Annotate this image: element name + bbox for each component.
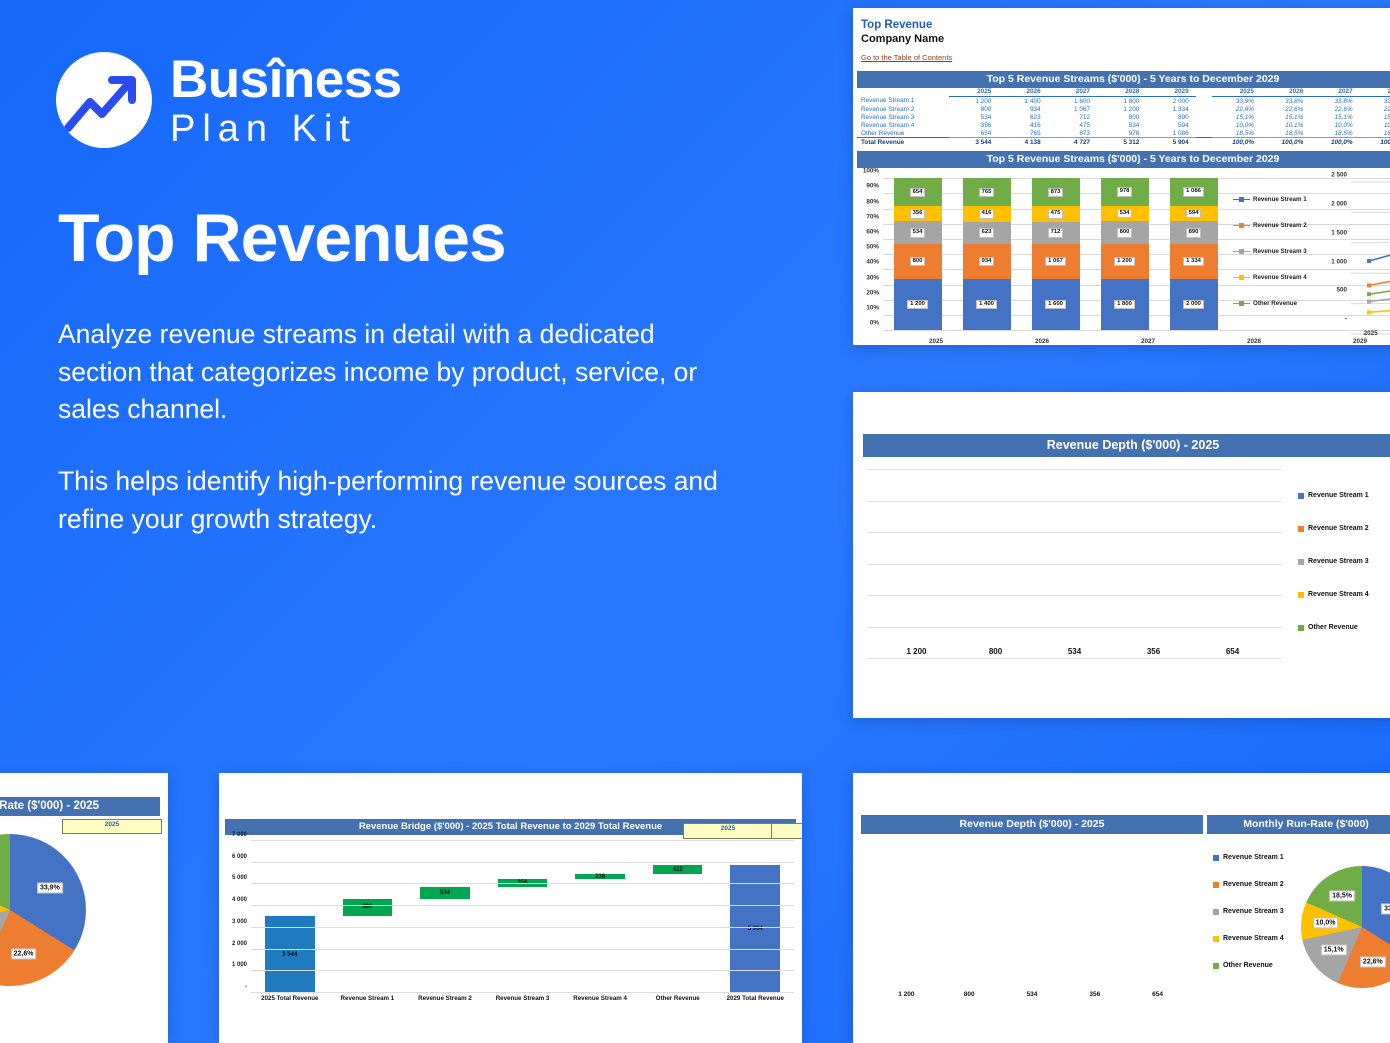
- gridline: [251, 862, 794, 863]
- run-rate-pie-host: 33,9%22,6%15,1%10,0%18,5%: [0, 816, 168, 1016]
- bridge-x-tick: Revenue Stream 4: [561, 995, 639, 1015]
- legend-label: Revenue Stream 2: [1253, 222, 1307, 229]
- table-of-contents-link[interactable]: Go to the Table of Contents: [861, 53, 952, 64]
- gridline: [251, 840, 794, 841]
- bridge-data-label: 432: [653, 867, 703, 873]
- line-x-axis: 202520262027: [1351, 330, 1390, 345]
- stacked-data-label: 534: [1117, 209, 1133, 218]
- legend-marker-icon: [1233, 248, 1250, 255]
- stacked-y-tick: 30%: [866, 274, 879, 281]
- table-title-bar: Top 5 Revenue Streams ($'000) - 5 Years …: [857, 71, 1390, 88]
- stacked-segment: 890: [1170, 221, 1218, 244]
- legend-item: Revenue Stream 1: [1213, 844, 1284, 871]
- panel-depth-and-runrate: Revenue Depth ($'000) - 2025 Monthly Run…: [853, 773, 1390, 1043]
- stacked-segment: 873: [1032, 178, 1080, 206]
- legend-swatch-icon: [1213, 936, 1219, 942]
- bridge-data-label: 534: [420, 890, 470, 896]
- depth-data-label: 356: [1063, 991, 1126, 998]
- gridline: [883, 330, 1390, 331]
- legend-swatch-icon: [1213, 909, 1219, 915]
- bridge-plot: 3 5448005343562384325 904: [251, 841, 794, 993]
- depth-data-label: 534: [1035, 647, 1114, 656]
- table-total-row: Total Revenue3 5444 1384 7275 3125 90410…: [857, 138, 1390, 147]
- stacked-bar-column: 7654166239341 400: [963, 178, 1011, 330]
- stacked-segment: 800: [894, 244, 942, 278]
- table-col-header: 2028: [1097, 88, 1146, 97]
- stacked-x-tick: 2028: [1230, 338, 1278, 345]
- stacked-x-tick: 2027: [1124, 338, 1172, 345]
- table-col-header: 2025: [949, 88, 998, 97]
- bridge-y-tick: 5 000: [232, 875, 247, 881]
- gridline: [867, 564, 1282, 565]
- depth-data-label: 654: [1193, 647, 1272, 656]
- panel-revenue-depth: Revenue Depth ($'000) - 2025 1 200800534…: [853, 392, 1390, 718]
- bridge-x-tick: 2025 Total Revenue: [251, 995, 329, 1015]
- bridge-bar: 534: [420, 887, 470, 899]
- legend-label: Other Revenue: [1223, 962, 1273, 969]
- legend-marker-icon: [1233, 300, 1250, 307]
- revenue-depth-legend: Revenue Stream 1Revenue Stream 2Revenue …: [1298, 479, 1369, 644]
- legend-item: Other Revenue: [1213, 952, 1284, 979]
- table-col-header: 2029: [1146, 88, 1195, 97]
- stacked-bar-column: 9785348001 2001 800: [1101, 178, 1149, 330]
- table-row: Other Revenue6547658739781 08618,5%18,5%…: [857, 129, 1390, 138]
- line-y-tick: 2 500: [1331, 172, 1347, 179]
- panel-monthly-run-rate-clipped: Run-Rate ($'000) - 2025 2025 33,9%22,6%1…: [0, 773, 168, 1043]
- stacked-plot: 6543565348001 2007654166239341 400873475…: [883, 178, 1228, 330]
- depth-data-label: 654: [1126, 991, 1189, 998]
- legend-label: Revenue Stream 4: [1223, 935, 1284, 942]
- bridge-x-tick: Revenue Stream 3: [484, 995, 562, 1015]
- sheet-company: Company Name: [861, 32, 1390, 46]
- revenue-depth-plot: 1 200800534356654: [867, 469, 1282, 658]
- stacked-segment: 1 800: [1101, 279, 1149, 331]
- stacked-segment: 623: [963, 222, 1011, 245]
- legend-swatch-icon: [1298, 625, 1304, 631]
- table-col-header-pct: 2028: [1360, 88, 1390, 97]
- gridline: [867, 658, 1282, 659]
- stacked-data-label: 934: [979, 257, 995, 266]
- logo-line-1: Busîness: [170, 53, 402, 106]
- stacked-bar-column: 6543565348001 200: [894, 178, 942, 330]
- table-row: Revenue Stream 353462371280089015,1%15,1…: [857, 113, 1390, 121]
- stacked-data-label: 623: [979, 228, 995, 237]
- legend-marker-icon: [1233, 274, 1250, 281]
- brand-logo: Busîness Plan Kit: [56, 52, 776, 148]
- bridge-data-label: 3 544: [265, 952, 315, 958]
- stacked-data-label: 712: [1048, 228, 1064, 237]
- table-col-header: 2026: [998, 88, 1047, 97]
- stacked-segment: 534: [894, 221, 942, 244]
- gridline: [251, 949, 794, 950]
- table-col-header-pct: 2025: [1212, 88, 1261, 97]
- stacked-data-label: 1 086: [1183, 187, 1204, 196]
- br-depth-legend: Revenue Stream 1Revenue Stream 2Revenue …: [1213, 844, 1284, 979]
- legend-item: Revenue Stream 3: [1233, 238, 1321, 264]
- legend-item: Revenue Stream 2: [1298, 512, 1369, 545]
- run-rate-title-bar: Run-Rate ($'000) - 2025: [0, 797, 160, 816]
- line-y-tick: 500: [1336, 287, 1347, 294]
- legend-label: Revenue Stream 2: [1308, 525, 1369, 532]
- stacked-y-tick: 20%: [866, 289, 879, 296]
- stacked-data-label: 1 800: [1114, 300, 1135, 309]
- line-y-tick: 2 000: [1331, 200, 1347, 207]
- stacked-data-label: 978: [1117, 187, 1133, 196]
- stacked-segment: 356: [894, 206, 942, 221]
- stacked-data-label: 475: [1048, 209, 1064, 218]
- bridge-y-axis: -1 0002 0003 0004 0005 0006 0007 000: [219, 841, 249, 993]
- depth-data-label: 800: [956, 647, 1035, 656]
- gridline: [251, 905, 794, 906]
- br-depth-chart: 1 200800534356654: [867, 840, 1197, 1000]
- stacked-y-tick: 60%: [866, 228, 879, 235]
- panel-revenue-bridge: Revenue Bridge ($'000) - 2025 Total Reve…: [219, 773, 802, 1043]
- legend-swatch-icon: [1213, 882, 1219, 888]
- stacked-x-tick: 2025: [912, 338, 960, 345]
- legend-label: Revenue Stream 3: [1308, 558, 1369, 565]
- pie-data-label: 33,9%: [1381, 904, 1390, 915]
- stacked-data-label: 356: [910, 209, 926, 218]
- bridge-data-label: 238: [575, 874, 625, 880]
- bridge-x-tick: Other Revenue: [639, 995, 717, 1015]
- table-col-header-pct: 2026: [1261, 88, 1310, 97]
- promo-paragraph-2: This helps identify high-performing reve…: [58, 463, 738, 538]
- legend-marker-icon: [1233, 222, 1250, 229]
- stacked-chart: 0%10%20%30%40%50%60%70%80%90%100% 654356…: [853, 172, 1390, 345]
- legend-label: Revenue Stream 3: [1223, 908, 1284, 915]
- stacked-data-label: 654: [910, 188, 926, 197]
- legend-item: Revenue Stream 2: [1213, 871, 1284, 898]
- legend-item: Other Revenue: [1233, 290, 1321, 316]
- bottom-right-title-row: Revenue Depth ($'000) - 2025 Monthly Run…: [861, 815, 1390, 834]
- line-y-axis: -5001 0001 5002 0002 500: [1319, 182, 1349, 326]
- stacked-segment: 2 000: [1170, 279, 1218, 330]
- stacked-segment: 934: [963, 244, 1011, 278]
- stacked-segment: 416: [963, 206, 1011, 221]
- depth-data-label: 1 200: [877, 647, 956, 656]
- stacked-data-label: 800: [910, 257, 926, 266]
- legend-item: Revenue Stream 1: [1298, 479, 1369, 512]
- page-title: Top Revenues: [58, 204, 776, 272]
- gridline: [867, 501, 1282, 502]
- stacked-y-tick: 0%: [870, 320, 879, 327]
- legend-label: Revenue Stream 4: [1308, 591, 1369, 598]
- legend-item: Revenue Stream 3: [1213, 898, 1284, 925]
- bridge-y-tick: 4 000: [232, 897, 247, 903]
- legend-marker-icon: [1233, 196, 1250, 203]
- line-chart: -5001 0001 5002 0002 500 202520262027: [1319, 176, 1390, 345]
- pie-data-label: 33,9%: [37, 882, 63, 893]
- bridge-bar: 238: [575, 874, 625, 879]
- sheet-title: Top Revenue: [861, 18, 1390, 32]
- bottom-right-body: 1 200800534356654 Revenue Stream 1Revenu…: [853, 834, 1390, 1014]
- stacked-chart-title-bar: Top 5 Revenue Streams ($'000) - 5 Years …: [857, 151, 1390, 168]
- legend-label: Revenue Stream 1: [1223, 854, 1284, 861]
- stacked-data-label: 1 200: [1114, 257, 1135, 266]
- legend-item: Revenue Stream 2: [1233, 212, 1321, 238]
- legend-swatch-icon: [1298, 493, 1304, 499]
- stacked-data-label: 1 600: [1045, 300, 1066, 309]
- gridline: [867, 595, 1282, 596]
- legend-swatch-icon: [1298, 559, 1304, 565]
- gridline: [251, 992, 794, 993]
- stacked-segment: 1 200: [1101, 244, 1149, 278]
- stacked-data-label: 873: [1048, 188, 1064, 197]
- stacked-segment: 654: [894, 178, 942, 206]
- depth-data-label: 356: [1114, 647, 1193, 656]
- logo-line-2: Plan Kit: [170, 110, 402, 148]
- bridge-y-tick: 1 000: [232, 962, 247, 968]
- bridge-bar: 432: [653, 865, 703, 874]
- bridge-x-tick: Revenue Stream 2: [406, 995, 484, 1015]
- stacked-segment: 534: [1101, 206, 1149, 221]
- legend-swatch-icon: [1213, 963, 1219, 969]
- legend-item: Revenue Stream 3: [1298, 545, 1369, 578]
- bridge-bar: 800: [343, 899, 393, 916]
- promo-block: Busîness Plan Kit Top Revenues Analyze r…: [56, 52, 776, 538]
- stacked-y-tick: 70%: [866, 213, 879, 220]
- stacked-segment: 765: [963, 178, 1011, 206]
- br-depth-title-bar: Revenue Depth ($'000) - 2025: [861, 815, 1203, 834]
- legend-item: Revenue Stream 1: [1233, 186, 1321, 212]
- stacked-segment: 1 086: [1170, 178, 1218, 206]
- revenue-depth-title-bar: Revenue Depth ($'000) - 2025: [863, 434, 1390, 457]
- legend-label: Revenue Stream 1: [1253, 196, 1307, 203]
- gridline: [251, 927, 794, 928]
- legend-label: Revenue Stream 2: [1223, 881, 1284, 888]
- table-row: Revenue Stream 11 2001 4001 6001 8002 00…: [857, 97, 1390, 106]
- stacked-bar-column: 1 0865948901 3342 000: [1170, 178, 1218, 330]
- pie-data-label: 22,6%: [1360, 956, 1386, 967]
- financial-table-wrap: 202520262027202820292025202620272028Reve…: [853, 88, 1390, 147]
- pie-data-label: 22,6%: [11, 948, 37, 959]
- stacked-segment: 1 334: [1170, 244, 1218, 278]
- stacked-data-label: 1 400: [976, 300, 997, 309]
- stacked-segment: 594: [1170, 206, 1218, 221]
- legend-item: Revenue Stream 4: [1298, 578, 1369, 611]
- depth-data-label: 1 200: [875, 991, 938, 998]
- gridline: [867, 469, 1282, 470]
- panel-top-revenue-sheet: Top Revenue Company Name Go to the Table…: [853, 8, 1390, 345]
- stacked-bar-column: 8734757121 0671 600: [1032, 178, 1080, 330]
- line-y-tick: 1 500: [1331, 229, 1347, 236]
- bridge-x-tick: Revenue Stream 1: [329, 995, 407, 1015]
- bridge-y-tick: 7 000: [232, 832, 247, 838]
- br-runrate-pie-host: 33,9%22,6%15,1%10,0%18,5%: [1283, 838, 1390, 1014]
- stacked-data-label: 534: [910, 228, 926, 237]
- stacked-y-tick: 90%: [866, 183, 879, 190]
- bridge-x-axis: 2025 Total RevenueRevenue Stream 1Revenu…: [251, 995, 794, 1015]
- table-col-header: 2027: [1048, 88, 1097, 97]
- gridline: [251, 883, 794, 884]
- stacked-y-tick: 40%: [866, 259, 879, 266]
- bridge-y-tick: 3 000: [232, 919, 247, 925]
- stacked-data-label: 1 067: [1045, 257, 1066, 266]
- stacked-y-axis: 0%10%20%30%40%50%60%70%80%90%100%: [853, 178, 881, 330]
- bridge-x-tick: 2029 Total Revenue: [716, 995, 794, 1015]
- stacked-data-label: 1 334: [1183, 257, 1204, 266]
- depth-data-label: 800: [938, 991, 1001, 998]
- revenue-depth-chart: 1 200800534356654 Revenue Stream 1Revenu…: [853, 461, 1390, 676]
- stacked-segment: 1 067: [1032, 244, 1080, 278]
- run-rate-pie: [0, 834, 86, 986]
- stacked-x-tick: 2026: [1018, 338, 1066, 345]
- bridge-y-tick: 6 000: [232, 854, 247, 860]
- legend-swatch-icon: [1298, 592, 1304, 598]
- line-plot: [1351, 182, 1390, 326]
- stacked-y-tick: 80%: [866, 198, 879, 205]
- pie-data-label: 18,5%: [1329, 891, 1355, 902]
- br-runrate-title-bar: Monthly Run-Rate ($'000): [1207, 815, 1390, 834]
- stacked-data-label: 594: [1186, 209, 1202, 218]
- table-col-header-pct: 2027: [1310, 88, 1359, 97]
- stacked-segment: 1 600: [1032, 279, 1080, 330]
- stacked-segment: 978: [1101, 178, 1149, 206]
- depth-data-label: 534: [1001, 991, 1064, 998]
- legend-swatch-icon: [1213, 855, 1219, 861]
- stacked-x-axis: 20252026202720282029: [883, 332, 1390, 345]
- stacked-segment: 1 200: [894, 279, 942, 330]
- line-x-tick: 2025: [1351, 330, 1390, 345]
- bridge-y-tick: 2 000: [232, 941, 247, 947]
- legend-label: Other Revenue: [1308, 624, 1358, 631]
- stacked-data-label: 800: [1117, 228, 1133, 237]
- stacked-segment: 800: [1101, 221, 1149, 244]
- stacked-segment: 1 400: [963, 279, 1011, 330]
- growth-arrow-icon: [56, 52, 152, 148]
- pie-data-label: 15,1%: [1321, 945, 1347, 956]
- legend-item: Other Revenue: [1298, 611, 1369, 644]
- promo-paragraph-1: Analyze revenue streams in detail with a…: [58, 316, 738, 429]
- legend-item: Revenue Stream 4: [1233, 264, 1321, 290]
- legend-item: Revenue Stream 4: [1213, 925, 1284, 952]
- stacked-data-label: 416: [979, 209, 995, 218]
- stacked-y-tick: 50%: [866, 244, 879, 251]
- gridline: [251, 970, 794, 971]
- table-row: Revenue Stream 28009341 0671 2001 33422,…: [857, 105, 1390, 113]
- line-y-tick: 1 000: [1331, 258, 1347, 265]
- line-y-tick: -: [1345, 316, 1347, 323]
- stacked-data-label: 2 000: [1183, 300, 1204, 309]
- pie-data-label: 10,0%: [1313, 918, 1339, 929]
- stacked-data-label: 890: [1186, 228, 1202, 237]
- legend-swatch-icon: [1298, 526, 1304, 532]
- bridge-y-tick: -: [245, 984, 247, 990]
- stacked-y-tick: 10%: [866, 304, 879, 311]
- legend-label: Revenue Stream 3: [1253, 248, 1307, 255]
- stacked-y-tick: 100%: [863, 168, 879, 175]
- stacked-segment: 475: [1032, 206, 1080, 221]
- legend-label: Other Revenue: [1253, 300, 1297, 307]
- legend-label: Revenue Stream 4: [1253, 274, 1307, 281]
- gridline: [867, 532, 1282, 533]
- stacked-segment: 712: [1032, 222, 1080, 245]
- line-chart-legend: Revenue Stream 1Revenue Stream 2Revenue …: [1233, 186, 1321, 316]
- revenue-table: 202520262027202820292025202620272028Reve…: [857, 88, 1390, 147]
- gridline: [867, 627, 1282, 628]
- sheet-header: Top Revenue Company Name Go to the Table…: [853, 8, 1390, 65]
- stacked-data-label: 1 200: [907, 300, 928, 309]
- table-row: Revenue Stream 435641647553459410,0%10,1…: [857, 121, 1390, 129]
- legend-label: Revenue Stream 1: [1308, 492, 1369, 499]
- revenue-bridge-chart: -1 0002 0003 0004 0005 0006 0007 000 3 5…: [219, 837, 802, 1017]
- stacked-data-label: 765: [979, 188, 995, 197]
